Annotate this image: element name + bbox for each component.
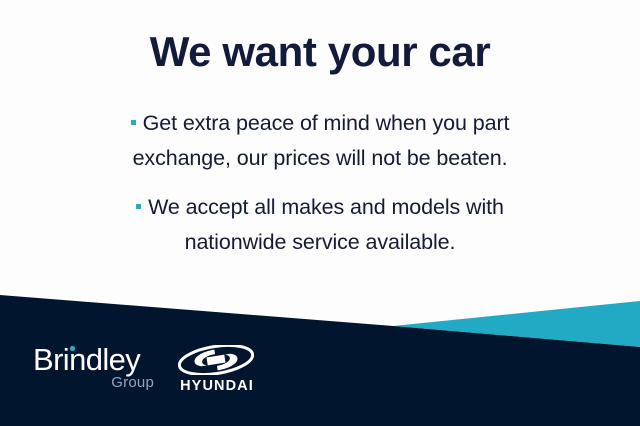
promo-banner: We want your car Get extra peace of mind… bbox=[0, 0, 640, 426]
page-title: We want your car bbox=[0, 27, 640, 77]
brindley-i-dot-icon bbox=[70, 346, 75, 351]
brindley-logo: Brindley Group bbox=[33, 341, 163, 403]
bullet-item-2: We accept all makes and models with nati… bbox=[0, 190, 640, 260]
bullet-1-line-1-text: Get extra peace of mind when you part bbox=[143, 111, 510, 135]
logo-row: Brindley Group HYUNDAI bbox=[33, 341, 293, 403]
bullet-2-line-2-text: nationwide service available. bbox=[0, 225, 640, 260]
hyundai-logo: HYUNDAI bbox=[178, 345, 268, 401]
hyundai-h-ellipse-icon bbox=[178, 345, 254, 375]
brindley-group-subtitle: Group bbox=[33, 374, 154, 392]
bullet-line-2: We accept all makes and models with bbox=[0, 190, 640, 225]
bullet-item-1: Get extra peace of mind when you part ex… bbox=[0, 106, 640, 176]
bullet-2-line-1-text: We accept all makes and models with bbox=[148, 195, 504, 219]
bullet-1-line-2-text: exchange, our prices will not be beaten. bbox=[0, 141, 640, 176]
bullet-dot-icon bbox=[136, 204, 141, 209]
hyundai-wordmark: HYUNDAI bbox=[177, 378, 257, 395]
bullet-dot-icon bbox=[131, 120, 136, 125]
bullet-line-1: Get extra peace of mind when you part bbox=[0, 106, 640, 141]
